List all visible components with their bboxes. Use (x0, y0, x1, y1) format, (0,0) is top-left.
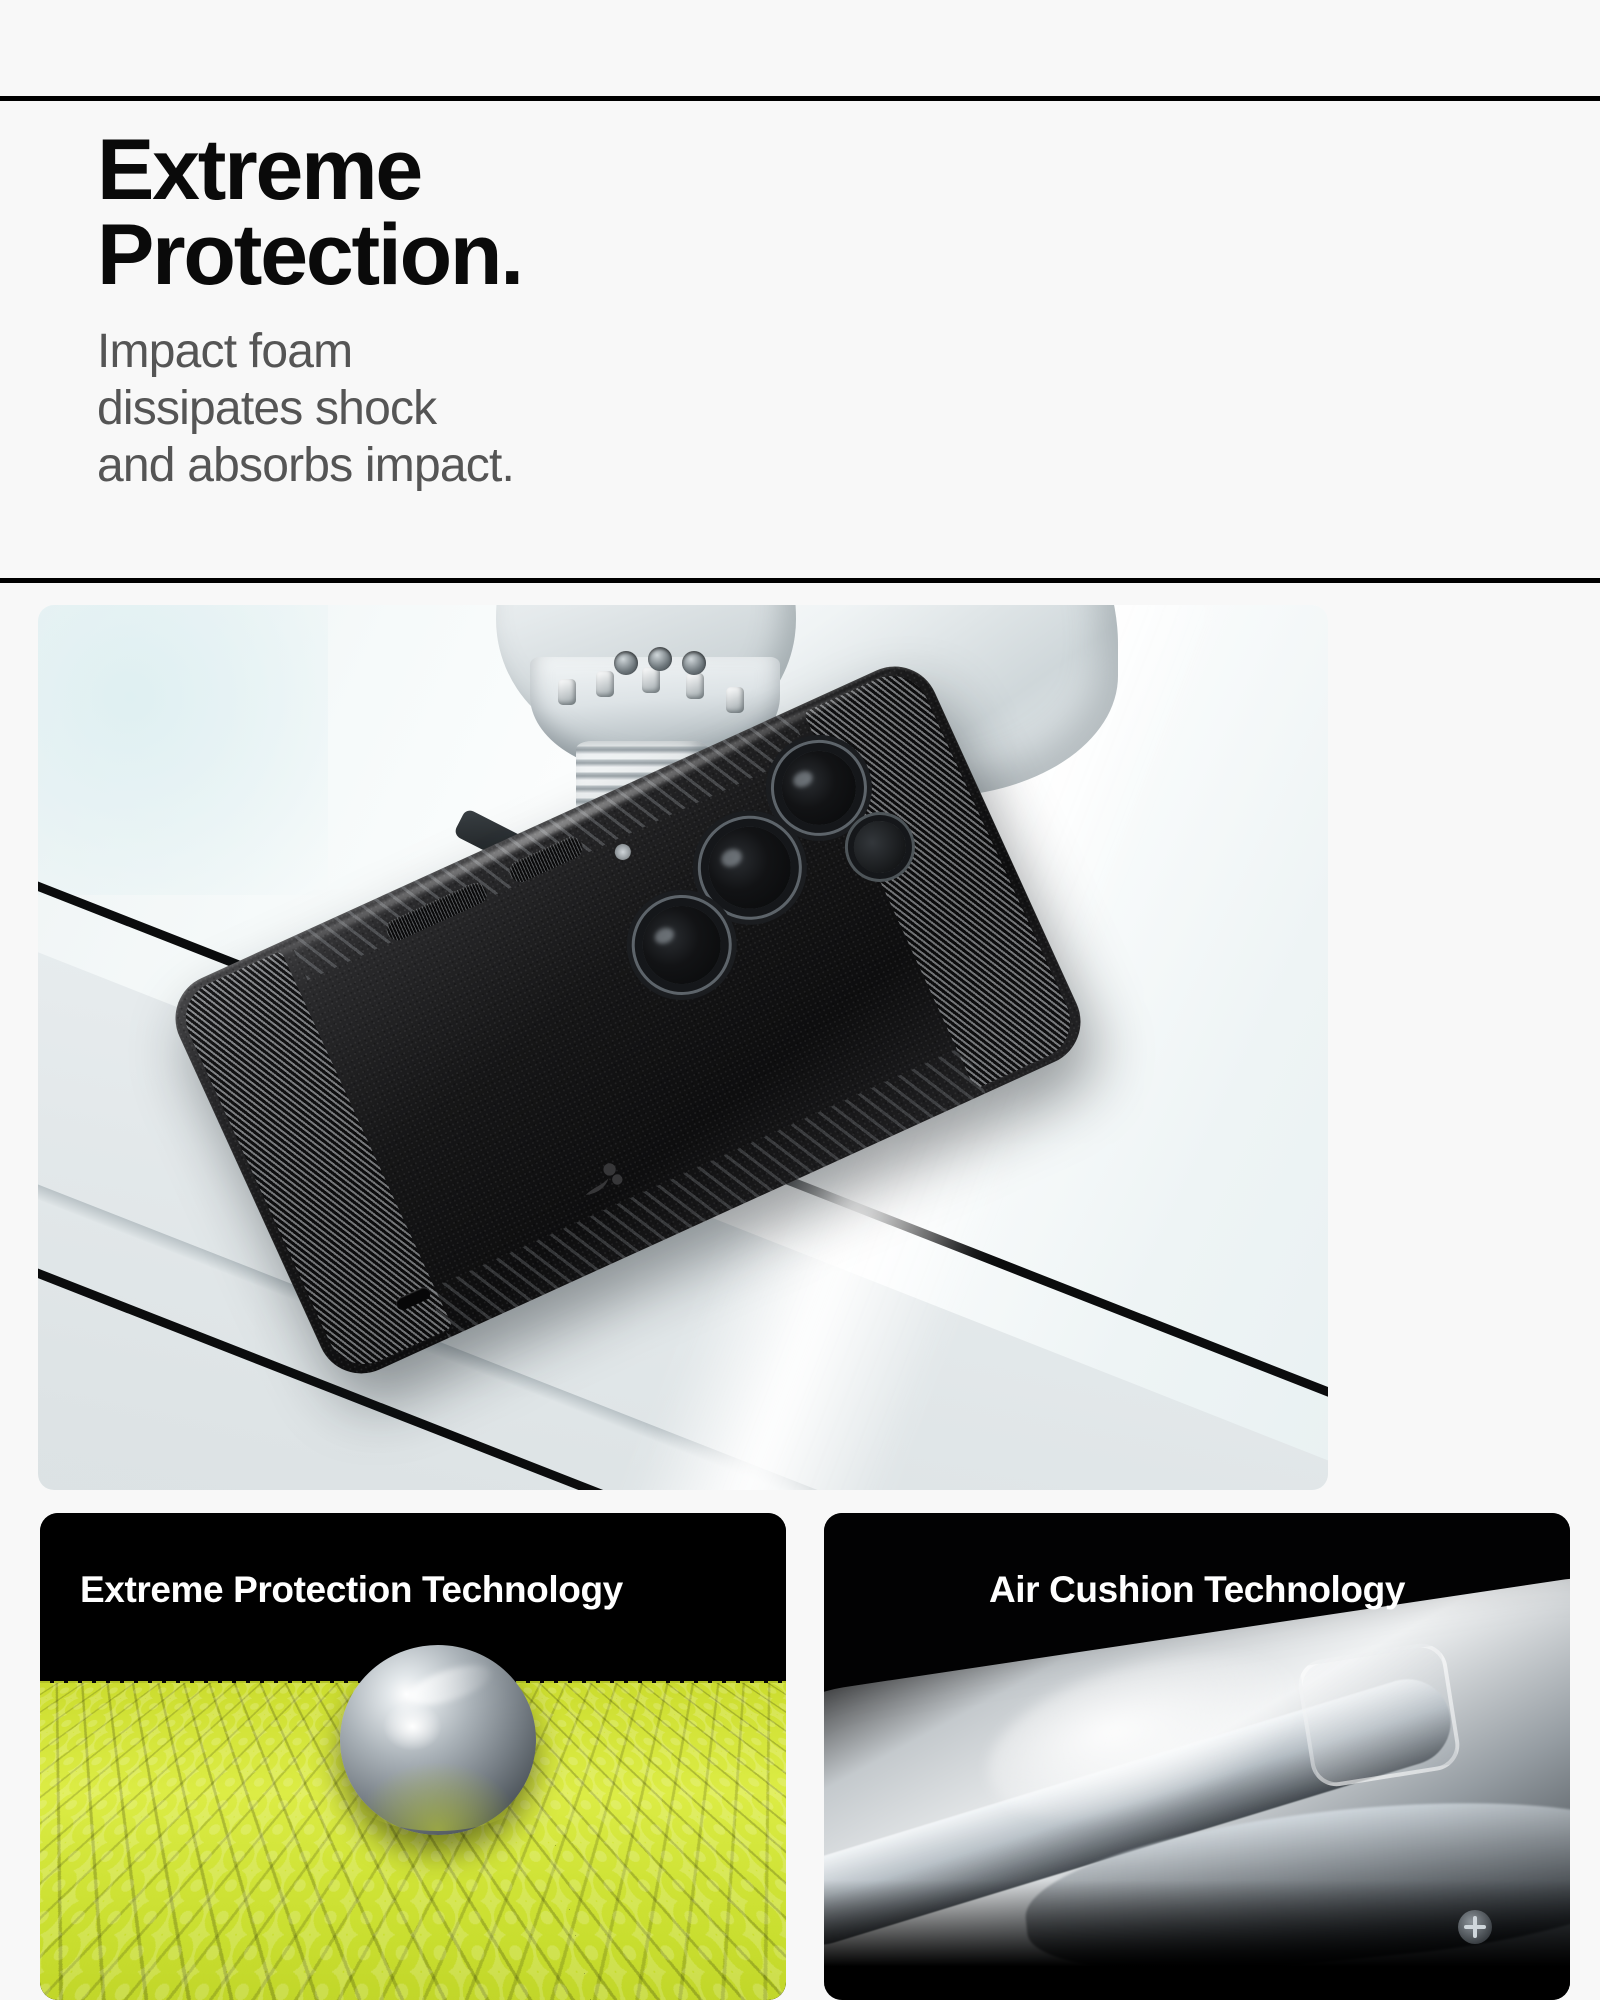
machine-bolt (726, 687, 744, 713)
machine-bolt (596, 671, 614, 697)
subheadline-line-3: and absorbs impact. (97, 438, 917, 495)
subheadline-line-2: dissipates shock (97, 381, 917, 438)
product-feature-page: Extreme Protection. Impact foam dissipat… (0, 0, 1600, 2000)
camera-lens (630, 893, 733, 996)
divider-top (0, 96, 1600, 101)
feature-card-air-cushion[interactable]: Air Cushion Technology (824, 1513, 1570, 2000)
machine-bore (648, 647, 672, 671)
air-cushion-pocket (1295, 1640, 1463, 1790)
feature-card-extreme-protection[interactable]: Extreme Protection Technology (40, 1513, 786, 2000)
machine-bore (682, 651, 706, 675)
machine-bolt (642, 667, 660, 693)
machine-bore (614, 651, 638, 675)
divider-bottom (0, 578, 1600, 583)
headline-line-2: Protection. (97, 213, 917, 298)
hero-image (38, 605, 1328, 1490)
page-title: Extreme Protection. (97, 128, 917, 298)
headline-block: Extreme Protection. Impact foam dissipat… (97, 128, 917, 494)
headline-line-1: Extreme (97, 122, 421, 218)
steel-ball (340, 1645, 536, 1835)
subheadline: Impact foam dissipates shock and absorbs… (97, 324, 917, 494)
machine-bolt (686, 673, 704, 699)
cushion-shadow-base (824, 1880, 1570, 2000)
feature-card-grid: Extreme Protection Technology Air Cushio… (40, 1513, 1570, 2000)
screw-icon (1458, 1910, 1492, 1944)
flash-icon (612, 841, 633, 862)
subheadline-line-1: Impact foam (97, 324, 917, 381)
hero-tint-left (38, 605, 328, 895)
camera-lens (696, 813, 805, 922)
feature-card-title: Air Cushion Technology (824, 1569, 1570, 1611)
feature-card-title: Extreme Protection Technology (40, 1569, 786, 1611)
machine-bolt (558, 679, 576, 705)
